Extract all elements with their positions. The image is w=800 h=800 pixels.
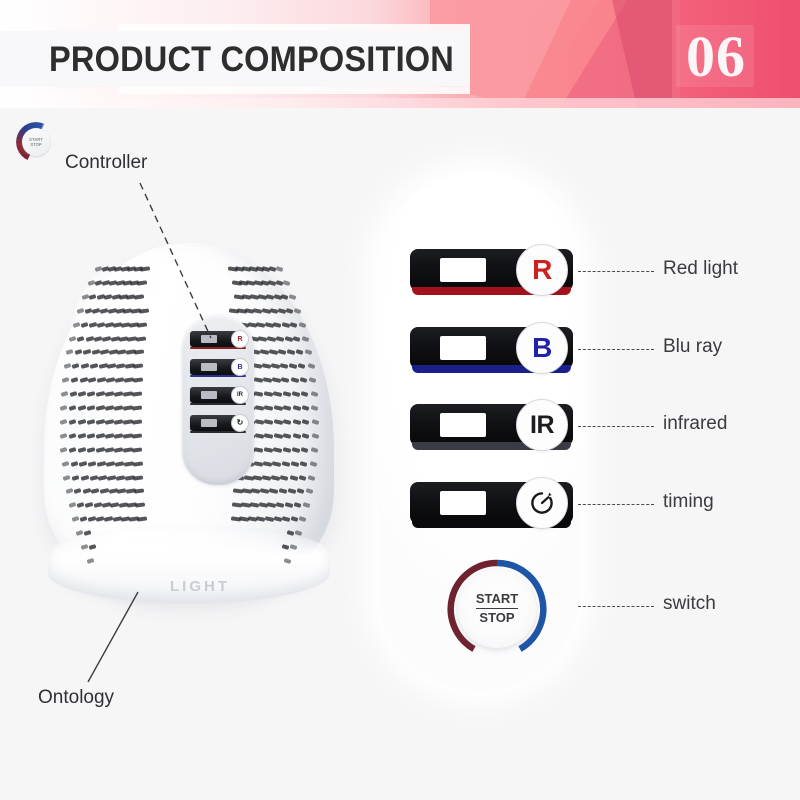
blu-ray-glyph: B xyxy=(532,334,552,362)
callout-label-controller: Controller xyxy=(65,152,147,174)
red-light-button[interactable]: R xyxy=(410,249,573,291)
device-button-r-screen xyxy=(201,335,217,343)
device-button-timing-badge: ↻ xyxy=(231,414,249,432)
page-header: PRODUCT COMPOSITION 06 xyxy=(0,0,800,108)
device-button-b-badge: B xyxy=(231,358,249,376)
device-button-r-badge: R xyxy=(231,330,249,348)
infrared-button[interactable]: IR xyxy=(410,404,573,446)
device-control-panel[interactable]: R B IR ↻ xyxy=(182,315,254,485)
device-button-b[interactable]: B xyxy=(190,359,246,375)
label-timing: timing xyxy=(663,491,714,513)
infrared-display xyxy=(440,413,486,437)
start-stop-switch[interactable]: START STOP xyxy=(444,556,550,662)
switch-leader xyxy=(578,606,654,607)
switch-label-stop: STOP xyxy=(479,609,514,626)
callout-label-ontology: Ontology xyxy=(38,687,114,709)
device-switch-face[interactable]: START STOP xyxy=(22,128,50,156)
switch-label-group: START STOP xyxy=(458,570,536,648)
label-switch: switch xyxy=(663,593,716,615)
blu-ray-leader xyxy=(578,349,654,350)
device-button-timing[interactable]: ↻ xyxy=(190,415,246,431)
blu-ray-button[interactable]: B xyxy=(410,327,573,369)
header-bottom-strip xyxy=(0,98,800,108)
timer-icon xyxy=(525,486,559,520)
infrared-badge: IR xyxy=(516,399,568,451)
red-light-leader xyxy=(578,271,654,272)
device-button-r[interactable]: R xyxy=(190,331,246,347)
infrared-leader xyxy=(578,426,654,427)
blu-ray-badge: B xyxy=(516,322,568,374)
device-button-timing-screen xyxy=(201,419,217,427)
device-button-b-screen xyxy=(201,363,217,371)
red-light-display xyxy=(440,258,486,282)
device-button-ir-badge: IR xyxy=(231,386,249,404)
infographic-canvas: PRODUCT COMPOSITION 06 R B IR xyxy=(0,0,800,800)
label-red-light: Red light xyxy=(663,258,738,280)
device-brand-text: LIGHT xyxy=(170,578,230,595)
infrared-glyph: IR xyxy=(530,413,554,438)
section-number: 06 xyxy=(676,22,756,92)
timing-badge xyxy=(516,477,568,529)
timing-button[interactable] xyxy=(410,482,573,524)
device-switch-label-bottom: STOP xyxy=(30,142,41,147)
timing-display xyxy=(440,491,486,515)
switch-label-start: START xyxy=(476,592,518,609)
device-button-ir[interactable]: IR xyxy=(190,387,246,403)
device-button-ir-screen xyxy=(201,391,217,399)
page-title: PRODUCT COMPOSITION xyxy=(49,39,440,81)
red-light-badge: R xyxy=(516,244,568,296)
timing-leader xyxy=(578,504,654,505)
red-light-glyph: R xyxy=(532,256,552,284)
blu-ray-display xyxy=(440,336,486,360)
label-infrared: infrared xyxy=(663,413,727,435)
label-blu-ray: Blu ray xyxy=(663,336,722,358)
